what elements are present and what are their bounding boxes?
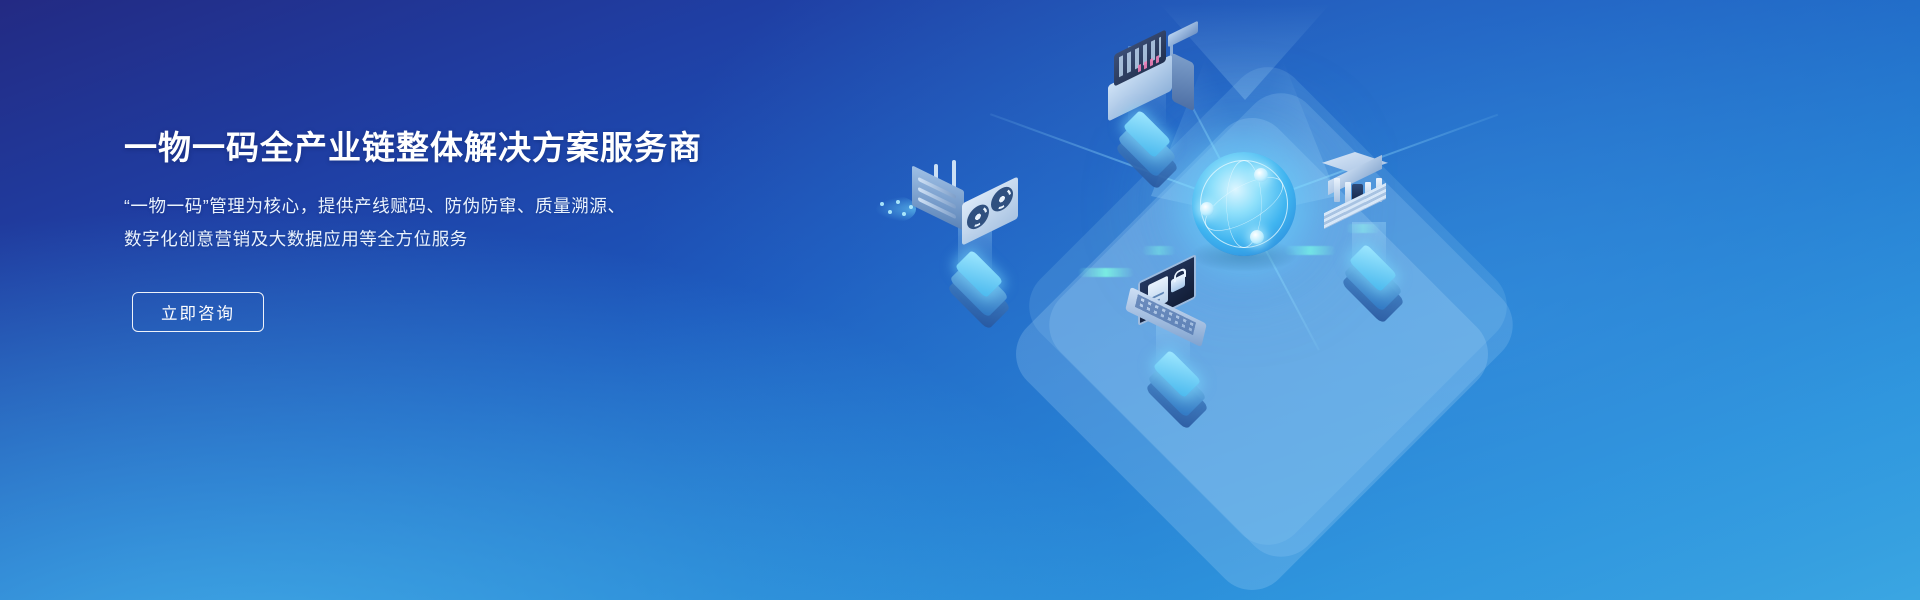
lock-icon: [1171, 273, 1185, 293]
server-fan-rack-icon: [912, 168, 1062, 260]
bank-column-1: [1334, 178, 1340, 202]
laptop-lock-icon: [1128, 268, 1224, 348]
page-title: 一物一码全产业链整体解决方案服务商: [124, 128, 764, 168]
data-packet-left: [1078, 268, 1134, 277]
hero-copy-block: 一物一码全产业链整体解决方案服务商 “一物一码”管理为核心，提供产线赋码、防伪防…: [124, 128, 764, 332]
hero-banner: 一物一码全产业链整体解决方案服务商 “一物一码”管理为核心，提供产线赋码、防伪防…: [0, 0, 1920, 600]
data-packet-left-2: [1142, 246, 1176, 255]
consult-now-button[interactable]: 立即咨询: [132, 292, 264, 332]
pos-terminal-icon: [1108, 40, 1204, 110]
bank-building-icon: [1322, 152, 1418, 248]
rack-fan-panel: [962, 176, 1018, 245]
pedestal-laptop: [1148, 352, 1206, 392]
isometric-illustration: [860, 0, 1920, 600]
network-sphere-icon: [1192, 152, 1296, 256]
fan-right: [991, 183, 1013, 216]
sphere-node-left: [1200, 202, 1214, 216]
hero-subtitle-line-1: “一物一码”管理为核心，提供产线赋码、防伪防窜、质量溯源、: [124, 190, 764, 223]
sphere-node-bottom: [1250, 230, 1264, 244]
airflow-jet: [876, 196, 916, 222]
hero-subtitle: “一物一码”管理为核心，提供产线赋码、防伪防窜、质量溯源、 数字化创意营销及大数…: [124, 190, 764, 256]
pedestal-server-rack: [950, 252, 1008, 292]
pos-side-face: [1172, 53, 1194, 112]
hero-subtitle-line-2: 数字化创意营销及大数据应用等全方位服务: [124, 223, 764, 256]
sphere-node-top: [1254, 168, 1268, 182]
fan-left: [967, 200, 989, 233]
pedestal-pos: [1118, 112, 1176, 152]
pedestal-bank: [1344, 246, 1402, 286]
